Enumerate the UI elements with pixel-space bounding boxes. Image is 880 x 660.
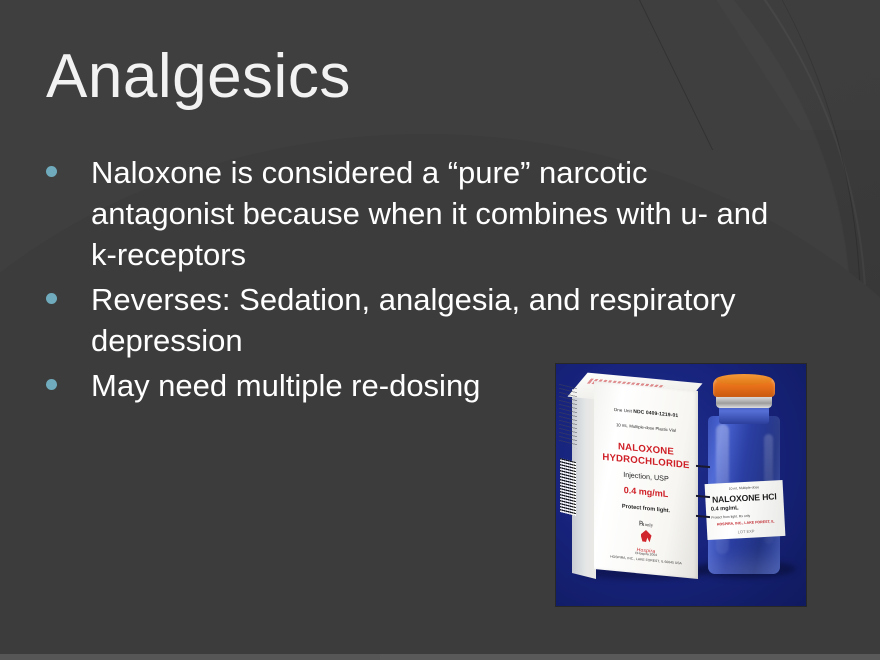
carton-tick-mark <box>696 465 710 468</box>
carton-barcode <box>560 458 576 516</box>
carton-volume: 10 mL Multiple-dose Plastic Vial <box>594 420 698 436</box>
bullet-marker-icon <box>46 379 57 390</box>
bullet-item: Reverses: Sedation, analgesia, and respi… <box>46 279 776 361</box>
carton-ndc-prefix: One Unit <box>614 407 632 414</box>
slide: Analgesics Naloxone is considered a “pur… <box>0 0 880 660</box>
vial-label: 10 mL Multiple-dose NALOXONE HCl 0.4 mg/… <box>705 480 786 540</box>
carton-ndc-code: NDC 0409-1219-01 <box>633 409 678 419</box>
carton-strength: 0.4 mg/mL <box>594 482 698 502</box>
vial-label-address: HOSPIRA, INC., LAKE FOREST, IL <box>707 519 785 527</box>
carton-tick-mark <box>696 495 710 498</box>
vial-label-strength: 0.4 mg/mL <box>706 503 784 513</box>
bullet-text: Reverses: Sedation, analgesia, and respi… <box>91 279 776 361</box>
carton-rx-text: only <box>645 522 653 528</box>
carton-storage: Protect from light. <box>594 501 698 517</box>
bullet-marker-icon <box>46 166 57 177</box>
bullet-marker-icon <box>46 293 57 304</box>
carton-side-microtext <box>559 384 577 448</box>
carton-front-panel: One Unit NDC 0409-1219-01 10 mL Multiple… <box>594 381 698 579</box>
product-photo: 10 mL Multiple-dose NALOXONE HCl 0.4 mg/… <box>556 364 806 606</box>
carton-ndc: One Unit NDC 0409-1219-01 <box>594 405 698 421</box>
carton-tick-mark <box>696 515 710 518</box>
carton-copyright-text: ©Hospira 2004 <box>635 551 657 557</box>
bullet-text: Naloxone is considered a “pure” narcotic… <box>91 152 776 275</box>
bullet-item: Naloxone is considered a “pure” narcotic… <box>46 152 776 275</box>
carton-volume-note: Multiple-dose Plastic Vial <box>629 423 675 432</box>
carton-volume-value: 10 mL <box>616 422 628 428</box>
vial-cap-top <box>716 374 772 385</box>
vial-label-lot: LOT EXP <box>707 527 785 536</box>
slide-title: Analgesics <box>46 44 351 109</box>
background-corner-edge <box>639 0 833 150</box>
background-corner-wedge <box>690 0 880 130</box>
background-bottom-band <box>0 620 880 660</box>
background-bottom-sheen <box>380 618 880 660</box>
hospira-mark-icon <box>641 529 652 542</box>
